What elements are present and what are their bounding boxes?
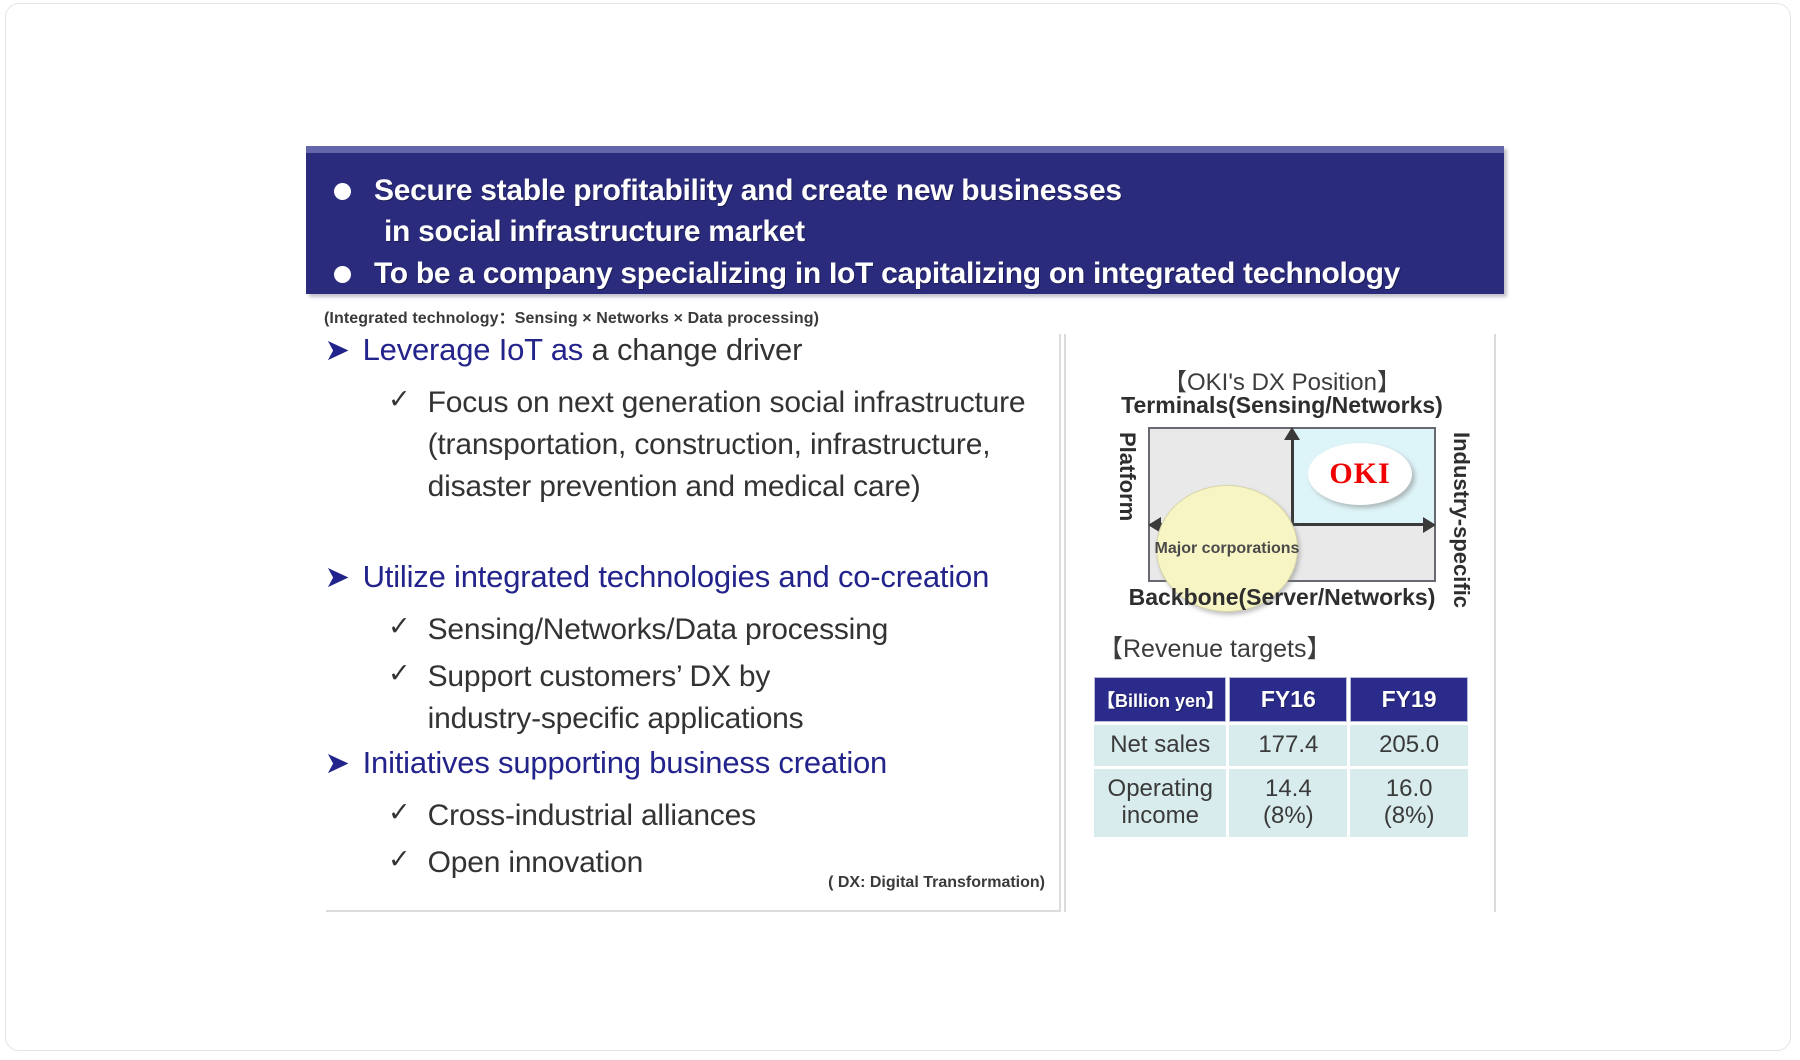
dx-position-matrix: Major corporations OKI bbox=[1148, 427, 1436, 582]
major-corporations-label: Major corporations bbox=[1155, 540, 1300, 558]
list-item-label: Sensing/Networks/Data processing bbox=[428, 609, 889, 651]
chevron-right-arrow-icon: ➤ bbox=[326, 564, 349, 591]
list-item: ✓ Focus on next generation social infras… bbox=[388, 382, 1028, 508]
heading-accent-text: Initiatives supporting business creation bbox=[363, 745, 887, 780]
row-label-net-sales: Net sales bbox=[1094, 725, 1226, 766]
diagram-top-axis-label: Terminals(Sensing/Networks) bbox=[1066, 392, 1498, 419]
heading-accent-text: Utilize integrated technologies and co-c… bbox=[363, 559, 989, 594]
header-banner: Secure stable profitability and create n… bbox=[306, 146, 1504, 294]
check-mark-icon: ✓ bbox=[388, 799, 411, 826]
cell-net-sales-fy19: 205.0 bbox=[1350, 725, 1468, 766]
list-item: ✓ Sensing/Networks/Data processing bbox=[388, 609, 1028, 651]
table-header-fy16: FY16 bbox=[1229, 677, 1347, 722]
banner-line-2: in social infrastructure market bbox=[384, 215, 805, 249]
revenue-targets-title: 【Revenue targets】 bbox=[1098, 629, 1331, 665]
up-arrow-icon bbox=[1284, 427, 1300, 440]
diagram-bottom-axis-label: Backbone(Server/Networks) bbox=[1066, 584, 1498, 611]
integrated-technology-note: (Integrated technology：Sensing × Network… bbox=[324, 304, 819, 328]
check-mark-icon: ✓ bbox=[388, 386, 411, 413]
left-content-panel: ➤ Leverage IoT as a change driver ✓ Focu… bbox=[326, 334, 1061, 912]
cell-net-sales-fy16: 177.4 bbox=[1229, 725, 1347, 766]
banner-line-1: Secure stable profitability and create n… bbox=[374, 174, 1122, 208]
table-row: Net sales 177.4 205.0 bbox=[1094, 725, 1468, 766]
row-label-operating-income: Operating income bbox=[1094, 769, 1226, 837]
diagram-left-axis-label: Platform bbox=[1114, 432, 1140, 521]
table-header-unit: 【Billion yen】 bbox=[1094, 677, 1226, 722]
section-heading-initiatives-supporting-business-creation: ➤ Initiatives supporting business creati… bbox=[326, 747, 887, 780]
check-mark-icon: ✓ bbox=[388, 846, 411, 873]
oki-logo-text: OKI bbox=[1329, 457, 1390, 491]
list-item-label: Open innovation bbox=[428, 842, 644, 884]
heading-plain-text: a change driver bbox=[583, 332, 802, 367]
list-item: ✓ Support customers’ DX by industry-spec… bbox=[388, 656, 888, 740]
vertical-axis-line bbox=[1291, 435, 1294, 525]
heading-accent-text: Leverage IoT as bbox=[363, 332, 583, 367]
list-item-label: Cross-industrial alliances bbox=[428, 795, 756, 837]
table-header-row: 【Billion yen】 FY16 FY19 bbox=[1094, 677, 1468, 722]
banner-line-3: To be a company specializing in IoT capi… bbox=[374, 257, 1400, 291]
chevron-right-arrow-icon: ➤ bbox=[326, 750, 349, 777]
right-arrow-icon bbox=[1423, 517, 1436, 533]
bullet-dot-icon bbox=[334, 266, 351, 283]
dx-footnote: ( DX: Digital Transformation) bbox=[828, 874, 1045, 892]
revenue-targets-table: 【Billion yen】 FY16 FY19 Net sales 177.4 … bbox=[1091, 674, 1471, 840]
list-item-label: Support customers’ DX by industry-specif… bbox=[428, 656, 888, 740]
slide-card: Secure stable profitability and create n… bbox=[5, 3, 1791, 1051]
cell-operating-income-fy16: 14.4(8%) bbox=[1229, 769, 1347, 837]
oki-logo-badge: OKI bbox=[1308, 443, 1412, 505]
cell-operating-income-fy19: 16.0(8%) bbox=[1350, 769, 1468, 837]
check-mark-icon: ✓ bbox=[388, 660, 411, 687]
list-item: ✓ Cross-industrial alliances bbox=[388, 795, 1028, 837]
table-header-fy19: FY19 bbox=[1350, 677, 1468, 722]
table-row: Operating income 14.4(8%) 16.0(8%) bbox=[1094, 769, 1468, 837]
right-content-panel: 【OKI's DX Position】 Terminals(Sensing/Ne… bbox=[1064, 334, 1496, 912]
list-item-label: Focus on next generation social infrastr… bbox=[428, 382, 1028, 508]
diagram-right-axis-label: Industry-specific bbox=[1448, 432, 1474, 608]
section-heading-utilize-integrated-technologies: ➤ Utilize integrated technologies and co… bbox=[326, 561, 989, 594]
check-mark-icon: ✓ bbox=[388, 613, 411, 640]
bullet-dot-icon bbox=[334, 183, 351, 200]
chevron-right-arrow-icon: ➤ bbox=[326, 337, 349, 364]
section-heading-leverage-iot: ➤ Leverage IoT as a change driver bbox=[326, 334, 802, 367]
